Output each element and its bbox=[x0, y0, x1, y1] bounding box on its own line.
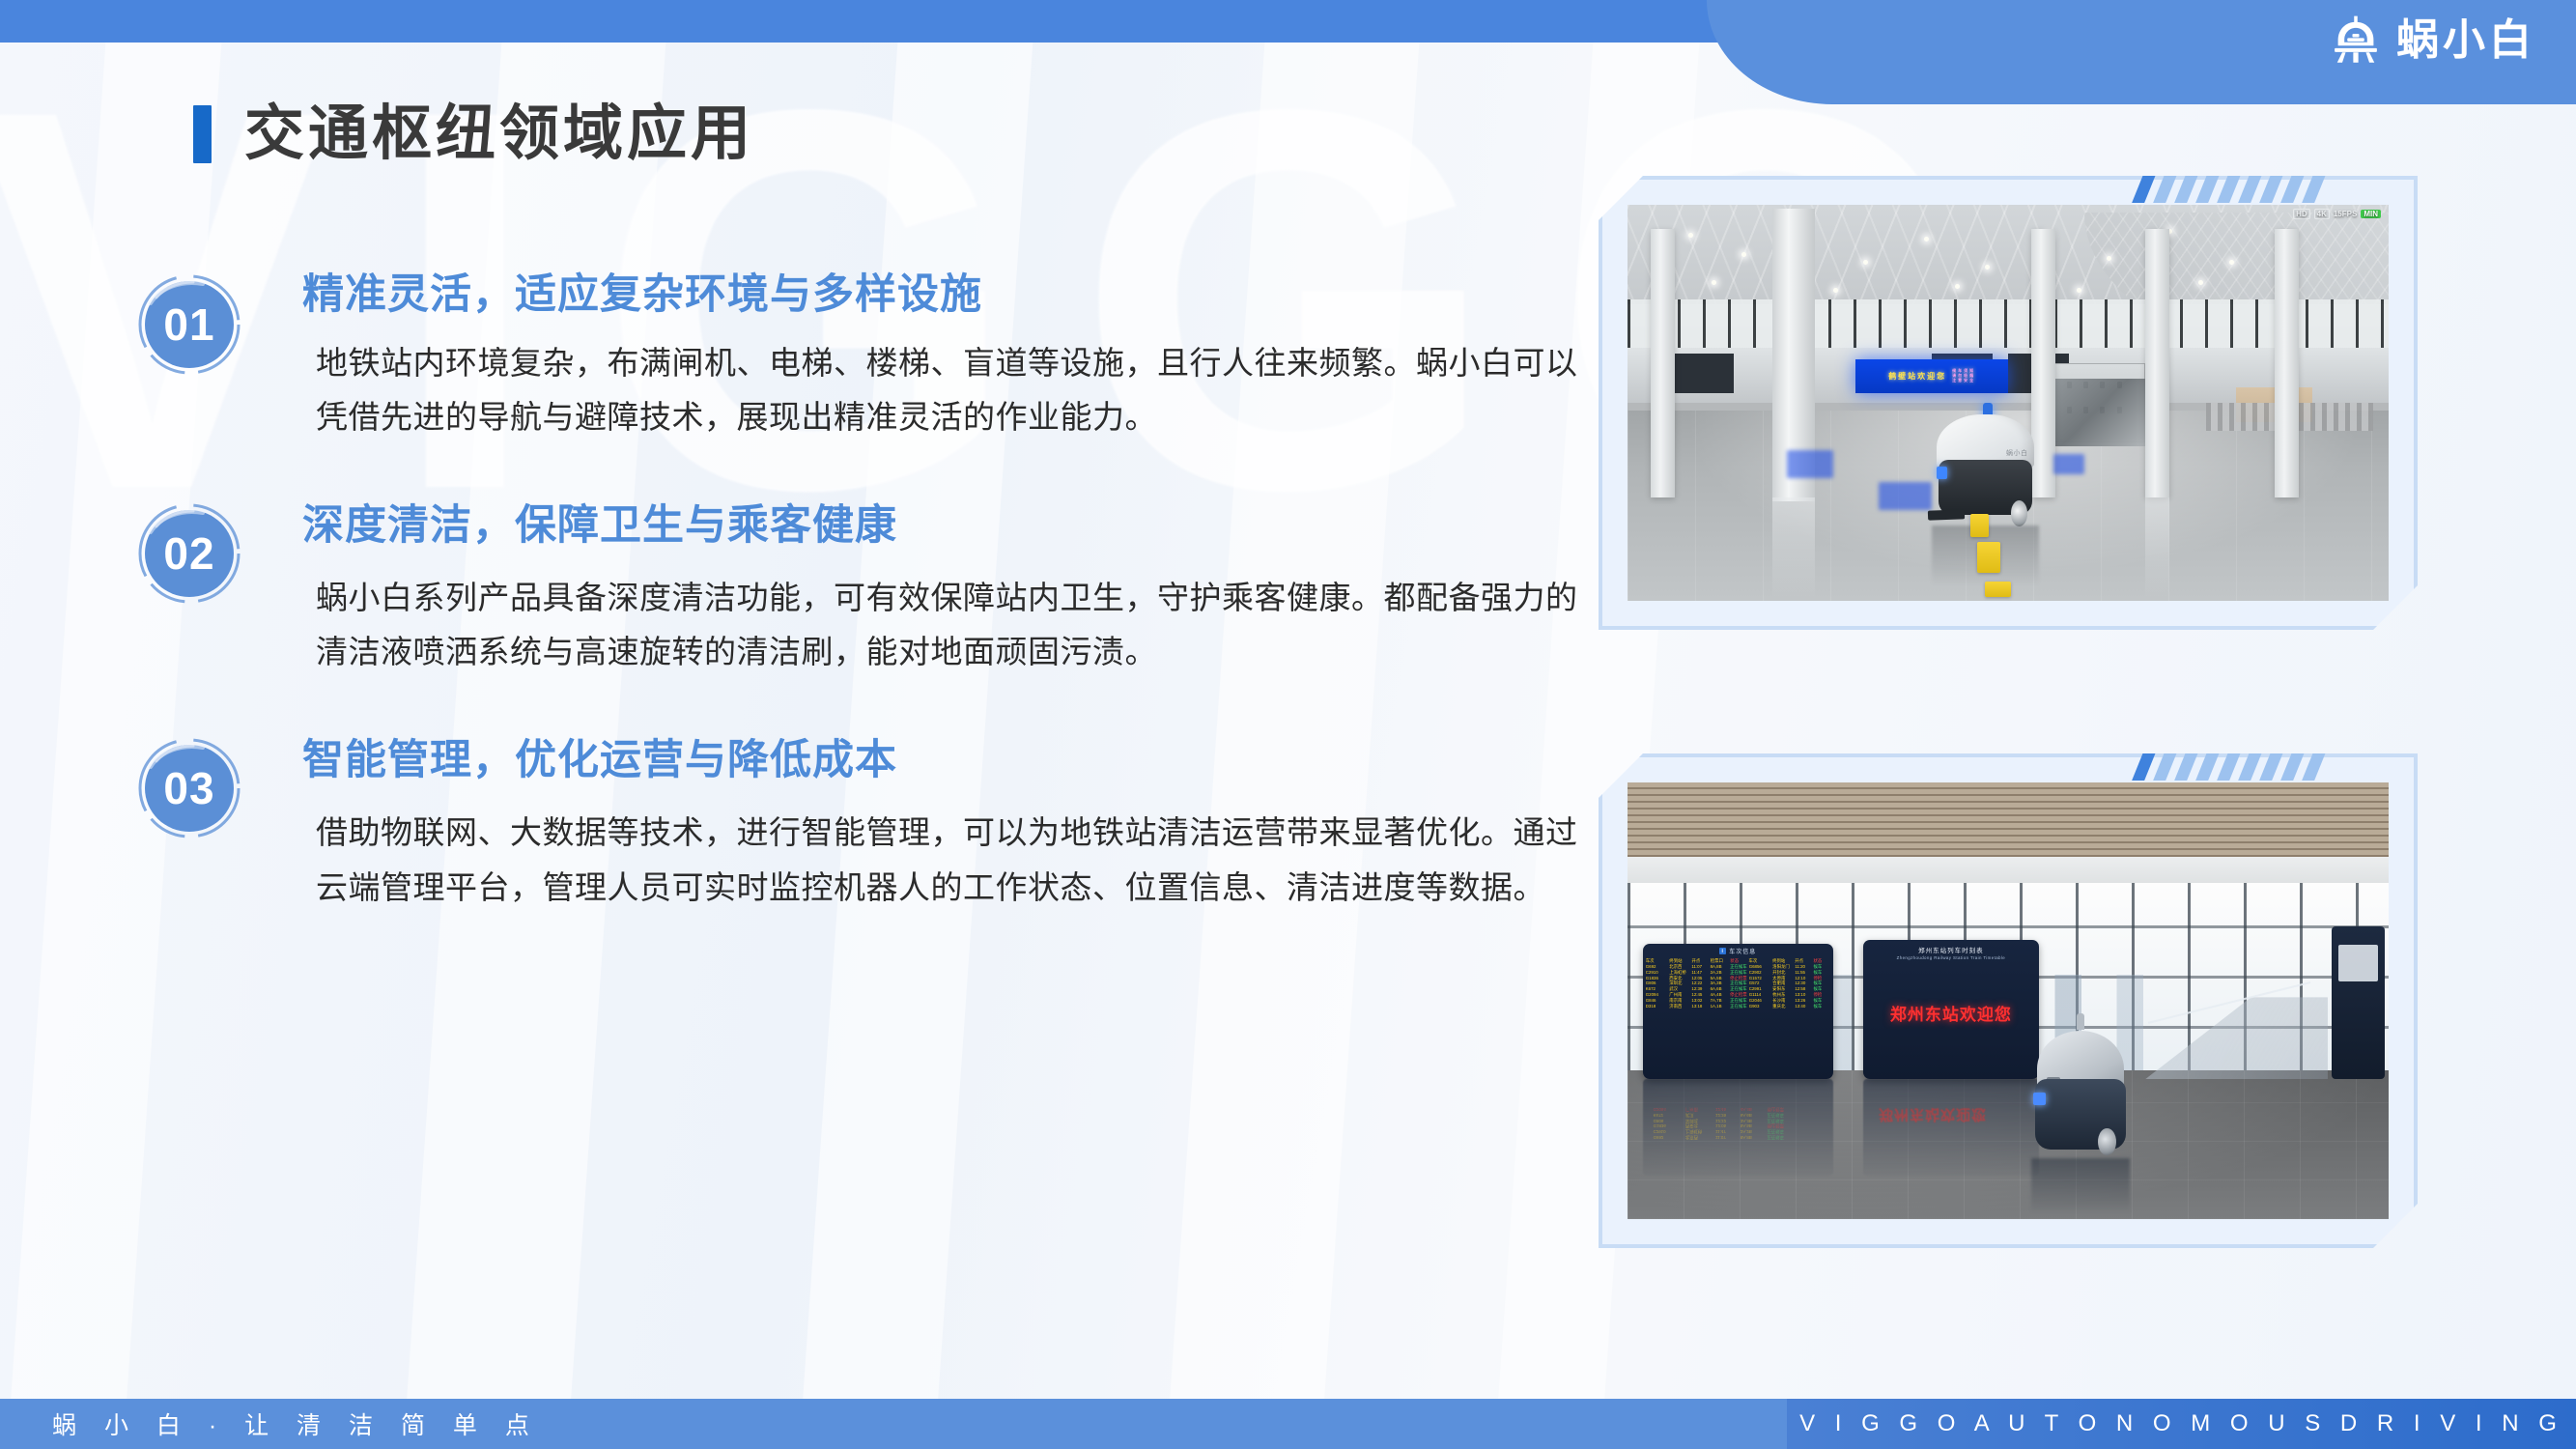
board-title-label: 车次信息 bbox=[1729, 947, 1756, 955]
brand-logo[interactable]: 蜗小白 bbox=[2329, 14, 2535, 68]
video-osd-overlay: HD 4K 15FPS MIN bbox=[2293, 209, 2381, 219]
caution-sign-icon bbox=[1977, 542, 2000, 574]
section-body-text: 地铁站内环境复杂，布满闸机、电梯、楼梯、盲道等设施，且行人往来频繁。蜗小白可以凭… bbox=[302, 336, 1587, 446]
frame-stripe-decor-icon bbox=[2138, 170, 2321, 203]
osd-quality-label: 4K bbox=[2314, 209, 2330, 219]
train-info-board: i 车次信息 车次终到站 开点检票口 状态 车次终到站 开点状态 G692北京西… bbox=[1643, 944, 1833, 1079]
welcome-board-title-cn: 郑州东站列车时刻表 bbox=[1863, 940, 2038, 954]
section-number-badge: 01 bbox=[135, 272, 243, 377]
section-heading: 智能管理，优化运营与降低成本 bbox=[302, 736, 1603, 786]
welcome-message-reflection: 郑州东站欢迎您 bbox=[1879, 1105, 1987, 1125]
slide-canvas: VIGGO 蜗小白 交通枢纽领域应用 bbox=[0, 0, 2576, 1449]
section-01: 01 精准灵活，适应复杂环境与多样设施 地铁站内环境复杂，布满闸机、电梯、楼梯、… bbox=[135, 270, 1603, 445]
robot-brand-label: 蜗小白 bbox=[2006, 448, 2028, 458]
section-number-badge: 02 bbox=[135, 501, 243, 606]
timetable-row: D318济南西13:181A,1B正在候车 G903重庆北13:40候车 bbox=[1646, 1004, 1830, 1009]
section-03: 03 智能管理，优化运营与降低成本 借助物联网、大数据等技术，进行智能管理，可以… bbox=[135, 736, 1603, 915]
osd-hd-label: HD bbox=[2293, 209, 2310, 219]
section-number-label: 01 bbox=[163, 298, 214, 351]
station-hall-scrubber-photo: 鹤壁站欢迎您 候车须知 请勿吸烟 注意安全 bbox=[1628, 205, 2389, 601]
caution-sign-icon bbox=[1985, 582, 2011, 597]
photo-frame-station-hall[interactable]: 鹤壁站欢迎您 候车须知 请勿吸烟 注意安全 bbox=[1599, 176, 2418, 630]
cleaning-robot-white: 蜗小白 bbox=[1932, 403, 2038, 522]
page-title: 交通枢纽领域应用 bbox=[244, 104, 754, 164]
osd-battery-label: MIN bbox=[2361, 210, 2381, 218]
station-lobby-timetable-photo: i 车次信息 车次终到站 开点检票口 状态 车次终到站 开点状态 G692北京西… bbox=[1628, 782, 2389, 1219]
info-icon: i bbox=[1719, 948, 1726, 954]
frame-stripe-decor-icon bbox=[2138, 748, 2321, 781]
section-heading: 深度清洁，保障卫生与乘客健康 bbox=[302, 501, 1603, 552]
osd-bitrate-label: 15FPS bbox=[2334, 210, 2357, 218]
section-number-label: 02 bbox=[163, 527, 214, 580]
section-body-text: 借助物联网、大数据等技术，进行智能管理，可以为地铁站清洁运营带来显著优化。通过云… bbox=[302, 806, 1587, 916]
cleaning-robot-blue bbox=[2031, 1023, 2130, 1158]
footer-brand-en: V I G G O A U T O N O M O U S D R I V I … bbox=[1799, 1410, 2563, 1437]
section-02: 02 深度清洁，保障卫生与乘客健康 蜗小白系列产品具备深度清洁功能，可有效保障站… bbox=[135, 501, 1603, 680]
section-number-label: 03 bbox=[163, 762, 214, 814]
section-heading: 精准灵活，适应复杂环境与多样设施 bbox=[302, 270, 1603, 321]
brand-name-label: 蜗小白 bbox=[2396, 14, 2535, 68]
caution-sign-icon bbox=[1970, 514, 1989, 538]
footer-right: V I G G O A U T O N O M O U S D R I V I … bbox=[1787, 1399, 2576, 1449]
footer-slogan: 蜗 小 白 · 让 清 洁 简 单 点 bbox=[0, 1406, 540, 1441]
page-title-row: 交通枢纽领域应用 bbox=[193, 104, 754, 164]
welcome-board: 郑州东站列车时刻表 Zhengzhoudong Railway Station … bbox=[1863, 940, 2038, 1080]
robot-logo-icon bbox=[2329, 14, 2383, 68]
welcome-message: 郑州东站欢迎您 bbox=[1863, 1001, 2038, 1025]
footer-left: 蜗 小 白 · 让 清 洁 简 单 点 bbox=[0, 1399, 1787, 1449]
section-number-badge: 03 bbox=[135, 736, 243, 840]
footer-bar: 蜗 小 白 · 让 清 洁 简 单 点 V I G G O A U T O N … bbox=[0, 1399, 2576, 1449]
timetable-grid: 车次终到站 开点检票口 状态 车次终到站 开点状态 G692北京西11:078A… bbox=[1643, 957, 1833, 1009]
title-accent-bar bbox=[193, 105, 212, 163]
station-led-sign: 鹤壁站欢迎您 候车须知 请勿吸烟 注意安全 bbox=[1855, 359, 2008, 393]
sections-column: 01 精准灵活，适应复杂环境与多样设施 地铁站内环境复杂，布满闸机、电梯、楼梯、… bbox=[135, 270, 1603, 915]
photo-frame-station-lobby[interactable]: i 车次信息 车次终到站 开点检票口 状态 车次终到站 开点状态 G692北京西… bbox=[1599, 753, 2418, 1248]
welcome-board-title-en: Zhengzhoudong Railway Station Train Time… bbox=[1863, 954, 2038, 960]
section-body-text: 蜗小白系列产品具备深度清洁功能，可有效保障站内卫生，守护乘客健康。都配备强力的清… bbox=[302, 571, 1587, 681]
